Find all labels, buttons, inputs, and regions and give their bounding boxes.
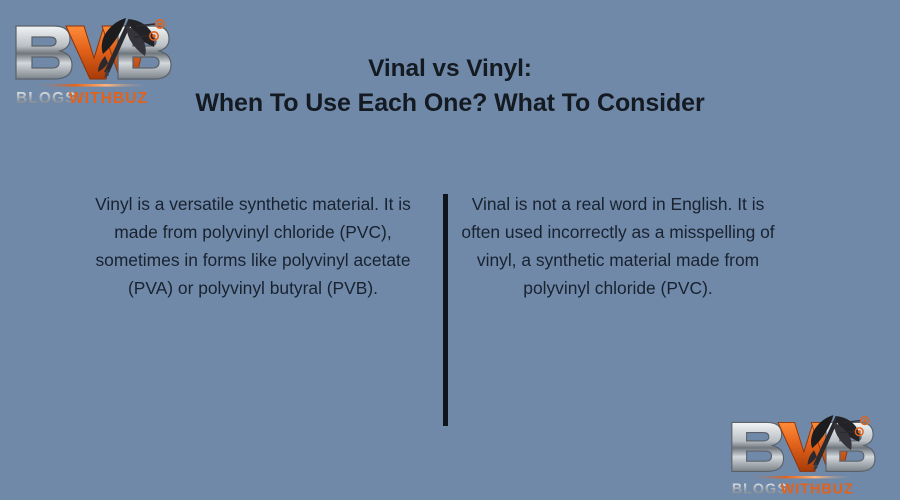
logo-letter-b-left [732,422,784,471]
title-line-2: When To Use Each One? What To Consider [170,86,730,120]
logo-tagline-blogs: BLOGS [16,90,77,107]
brand-logo-bottom-right[interactable]: BLOGS WITHBUZ [722,404,882,500]
vertical-divider [443,194,448,426]
title-line-1: Vinal vs Vinyl: [170,52,730,86]
logo-letter-b-left [16,26,72,79]
logo-streak [747,476,858,478]
logo-tagline-blogs: BLOGS [732,482,788,498]
page-title: Vinal vs Vinyl: When To Use Each One? Wh… [170,52,730,120]
comparison-right-text: Vinal is not a real word in English. It … [458,190,778,302]
comparison-left-text: Vinyl is a versatile synthetic material.… [93,190,413,302]
logo-tagline: BLOGS WITHBUZ [16,90,148,107]
infographic-canvas: BLOGS WITHBUZ Vinal vs Vinyl: When To Us… [0,0,900,500]
logo-streak [32,84,152,87]
comparison-columns: Vinyl is a versatile synthetic material.… [0,190,900,440]
logo-tagline: BLOGS WITHBUZ [732,482,854,498]
brand-logo-top-left[interactable]: BLOGS WITHBUZ [8,6,176,110]
logo-tagline-withbuz: WITHBUZ [69,90,148,107]
logo-tagline-withbuz: WITHBUZ [781,482,854,498]
